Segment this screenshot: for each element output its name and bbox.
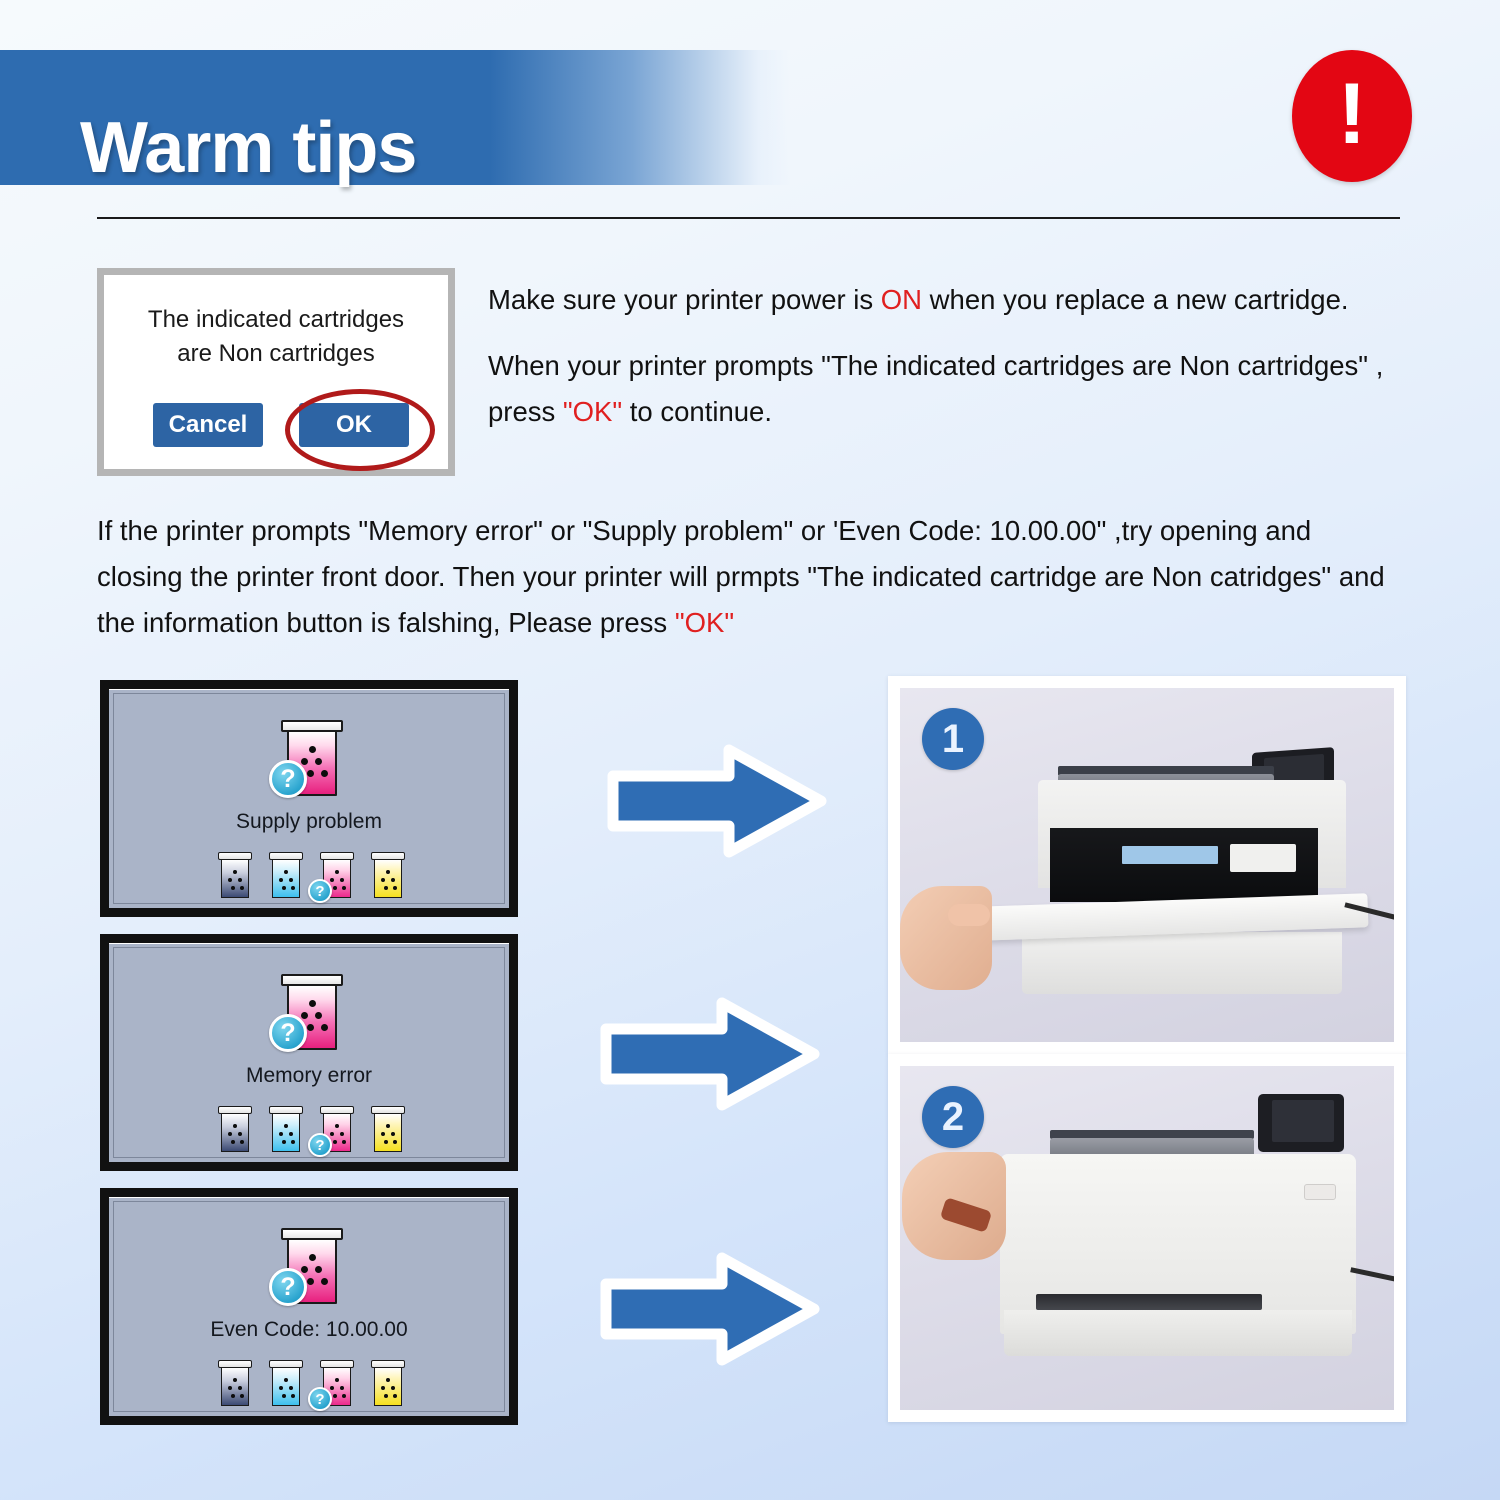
toner-dot (233, 870, 237, 874)
toner-dot (330, 878, 334, 882)
exclamation-glyph: ! (1292, 50, 1412, 182)
cartridge-status-row: ? (114, 1360, 504, 1414)
toner-dot (228, 1386, 232, 1390)
alert-exclamation-icon: ! (1292, 50, 1412, 182)
power-button (1304, 1184, 1336, 1200)
photo-image: 1 (900, 688, 1394, 1042)
toner-dot (231, 1394, 235, 1398)
question-mark-icon: ? (308, 1133, 332, 1157)
dialog-message: The indicated cartridges are Non cartrid… (104, 303, 448, 371)
cartridge-cyan-icon (269, 1106, 303, 1152)
toner-dot (231, 886, 235, 890)
cartridge-cap (371, 1106, 405, 1114)
cartridge-body (221, 859, 249, 898)
cartridge-cap (269, 1360, 303, 1368)
cartridge-body (221, 1113, 249, 1152)
toner-dot (279, 1386, 283, 1390)
toner-dot (284, 1378, 288, 1382)
toner-dot (233, 1124, 237, 1128)
toner-dot (335, 870, 339, 874)
magenta-cartridge-icon: ? (281, 720, 343, 796)
question-mark-icon: ? (308, 1387, 332, 1411)
toner-dot (282, 886, 286, 890)
toner-dot (289, 1386, 293, 1390)
toner-dot (301, 1266, 308, 1273)
screen-message: Even Code: 10.00.00 (114, 1318, 504, 1342)
cartridge-cyan-icon (269, 852, 303, 898)
toner-dot (340, 1132, 344, 1136)
cartridge-black-icon (218, 1106, 252, 1152)
toner-dot (321, 1278, 328, 1285)
printer-photo-step-2: 2 (888, 1054, 1406, 1422)
cartridge-cap (371, 1360, 405, 1368)
printer-paper-slot (1036, 1294, 1262, 1310)
toner-dot (279, 878, 283, 882)
toner-dot (340, 1386, 344, 1390)
cartridge-magenta-icon: ? (320, 1360, 354, 1406)
screen-inner: ? Supply problem (113, 693, 505, 904)
cartridge-cap (320, 852, 354, 860)
toner-dot (340, 878, 344, 882)
photo-image: 2 (900, 1066, 1394, 1410)
printer-base (1022, 932, 1342, 994)
toner-dot (384, 886, 388, 890)
toner-dot (342, 886, 346, 890)
arrow-right-icon (600, 995, 820, 1113)
header-divider (97, 217, 1400, 219)
toner-dot (279, 1132, 283, 1136)
toner-dot (315, 758, 322, 765)
cartridge-cap (269, 852, 303, 860)
toner-dot (301, 758, 308, 765)
toner-dot (381, 1132, 385, 1136)
cartridge-cap (218, 1106, 252, 1114)
toner-dot (393, 1394, 397, 1398)
toner-dot (238, 878, 242, 882)
cartridge-status-row: ? (114, 852, 504, 906)
cartridge-cap (371, 852, 405, 860)
toner-dot (384, 1394, 388, 1398)
toner-dot (301, 1012, 308, 1019)
question-mark-icon: ? (269, 1014, 307, 1052)
instruction-line-prompt: When your printer prompts "The indicated… (488, 343, 1448, 435)
arrow-right-icon (600, 1250, 820, 1368)
cartridge-body (374, 859, 402, 898)
toner-dot (233, 1378, 237, 1382)
question-mark-icon: ? (269, 1268, 307, 1306)
text-middle-ok: "OK" (675, 607, 734, 638)
toner-dot (240, 1140, 244, 1144)
toner-dot (386, 1378, 390, 1382)
toner-dot (291, 1140, 295, 1144)
instruction-line-power: Make sure your printer power is ON when … (488, 277, 1448, 323)
toner-dot (228, 1132, 232, 1136)
toner-dot (391, 878, 395, 882)
text-prompt-ok: "OK" (563, 396, 622, 427)
toner-dot (307, 770, 314, 777)
cartridge-blue-strip (1122, 846, 1218, 864)
toner-dot (315, 1266, 322, 1273)
cartridge-cap (218, 852, 252, 860)
cartridge-status-row: ? (114, 1106, 504, 1160)
toner-dot (381, 878, 385, 882)
toner-dot (284, 1124, 288, 1128)
cartridge-cap (281, 1228, 343, 1240)
toner-dot (282, 1140, 286, 1144)
toner-dot (238, 1132, 242, 1136)
cartridge-body (374, 1367, 402, 1406)
toner-dot (231, 1140, 235, 1144)
cartridge-cap (269, 1106, 303, 1114)
cartridge-body (272, 1367, 300, 1406)
cartridge-black-icon (218, 852, 252, 898)
toner-dot (393, 1140, 397, 1144)
cartridge-yellow-icon (371, 1360, 405, 1406)
screen-inner: ? Memory error (113, 947, 505, 1158)
magenta-cartridge-icon: ? (281, 1228, 343, 1304)
toner-dot (284, 870, 288, 874)
toner-dot (307, 1024, 314, 1031)
toner-dot (386, 870, 390, 874)
text-middle-a: If the printer prompts "Memory error" or… (97, 515, 1385, 638)
toner-dot (342, 1394, 346, 1398)
printer-photo-step-1: 1 (888, 676, 1406, 1054)
toner-dot (335, 1124, 339, 1128)
magenta-cartridge-icon: ? (281, 974, 343, 1050)
toner-dot (289, 1132, 293, 1136)
toner-dot (240, 886, 244, 890)
toner-dot (291, 1394, 295, 1398)
toner-dot (240, 1394, 244, 1398)
arrow-right-icon (607, 742, 827, 860)
screen-message: Memory error (114, 1064, 504, 1088)
toner-dot (384, 1140, 388, 1144)
toner-dot (309, 746, 316, 753)
printer-base (1004, 1310, 1352, 1356)
page-title: Warm tips (80, 112, 416, 184)
toner-dot (333, 1140, 337, 1144)
cartridge-body (221, 1367, 249, 1406)
toner-dot (391, 1132, 395, 1136)
toner-dot (330, 1132, 334, 1136)
screen-message: Supply problem (114, 810, 504, 834)
toner-dot (381, 1386, 385, 1390)
dialog-message-line2: are Non cartridges (104, 337, 448, 371)
cartridge-cap (281, 720, 343, 732)
instruction-paragraph-top: Make sure your printer power is ON when … (488, 277, 1448, 435)
cartridge-black-icon (218, 1360, 252, 1406)
dialog-button-row: Cancel OK (104, 403, 448, 449)
text-power-b: when you replace a new cartridge. (922, 284, 1349, 315)
printer-instruction-label (1230, 844, 1296, 872)
toner-dot (393, 886, 397, 890)
question-mark-icon: ? (308, 879, 332, 903)
toner-dot (282, 1394, 286, 1398)
instruction-paragraph-middle: If the printer prompts "Memory error" or… (97, 508, 1402, 646)
toner-dot (333, 886, 337, 890)
toner-dot (289, 878, 293, 882)
cartridge-body (272, 859, 300, 898)
cancel-button[interactable]: Cancel (153, 403, 263, 447)
toner-dot (307, 1278, 314, 1285)
toner-dot (335, 1378, 339, 1382)
toner-dot (391, 1386, 395, 1390)
toner-dot (228, 878, 232, 882)
thumb (948, 904, 990, 926)
toner-dot (309, 1000, 316, 1007)
toner-dot (309, 1254, 316, 1261)
step-badge: 2 (922, 1086, 984, 1148)
cartridge-magenta-icon: ? (320, 1106, 354, 1152)
toner-dot (386, 1124, 390, 1128)
printer-dialog-mockup: The indicated cartridges are Non cartrid… (97, 268, 455, 476)
cartridge-yellow-icon (371, 1106, 405, 1152)
header-banner: Warm tips (0, 50, 790, 185)
ok-highlight-ellipse (285, 389, 435, 471)
toner-dot (321, 1024, 328, 1031)
text-power-on: ON (881, 284, 922, 315)
toner-dot (291, 886, 295, 890)
text-prompt-b: to continue. (622, 396, 772, 427)
cartridge-cap (218, 1360, 252, 1368)
cartridge-cap (281, 974, 343, 986)
toner-dot (315, 1012, 322, 1019)
dialog-message-line1: The indicated cartridges (104, 303, 448, 337)
cartridge-cap (320, 1360, 354, 1368)
cartridge-yellow-icon (371, 852, 405, 898)
question-mark-icon: ? (269, 760, 307, 798)
printer-display (1272, 1100, 1334, 1142)
toner-dot (342, 1140, 346, 1144)
toner-dot (321, 770, 328, 777)
printer-screen-event-code: ? Even Code: 10.00.00 (100, 1188, 518, 1425)
screen-inner: ? Even Code: 10.00.00 (113, 1201, 505, 1412)
toner-dot (330, 1386, 334, 1390)
text-power-a: Make sure your printer power is (488, 284, 881, 315)
printer-screen-supply-problem: ? Supply problem (100, 680, 518, 917)
cartridge-body (272, 1113, 300, 1152)
cartridge-cap (320, 1106, 354, 1114)
toner-dot (238, 1386, 242, 1390)
cartridge-cyan-icon (269, 1360, 303, 1406)
cartridge-magenta-icon: ? (320, 852, 354, 898)
printer-screen-memory-error: ? Memory error (100, 934, 518, 1171)
power-cable (1350, 1267, 1394, 1286)
toner-dot (333, 1394, 337, 1398)
step-badge: 1 (922, 708, 984, 770)
cartridge-body (374, 1113, 402, 1152)
hand (900, 886, 992, 990)
